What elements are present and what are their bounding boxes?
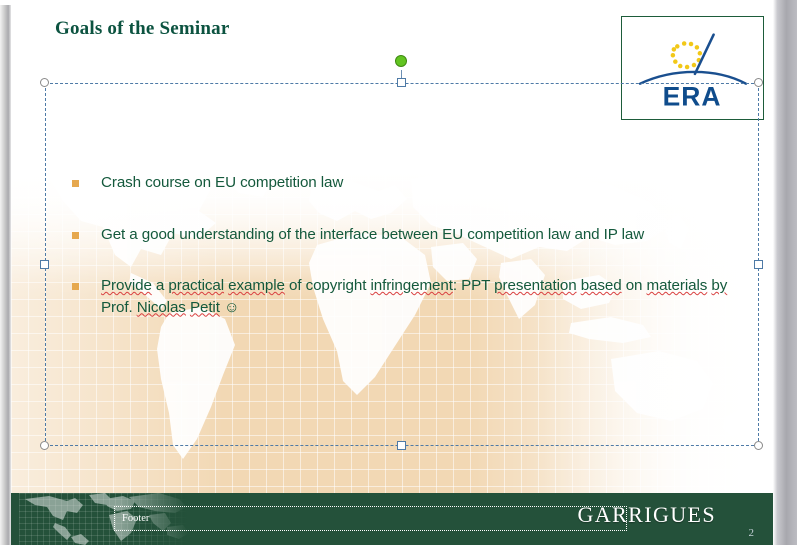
square-bullet-icon [72, 283, 79, 290]
square-bullet-icon [72, 232, 79, 239]
handle-bottom-right[interactable] [754, 441, 763, 450]
page-number: 2 [749, 527, 755, 539]
handle-bottom-center[interactable] [397, 441, 406, 450]
handle-top-center[interactable] [397, 78, 406, 87]
bullet-text-1: Crash course on EU competition law [101, 172, 343, 194]
square-bullet-icon [72, 180, 79, 187]
slide-footer-bar: Footer GARRIGUES 2 [11, 493, 774, 545]
slide-canvas[interactable]: Goals of the Seminar [11, 4, 774, 545]
brand-wordmark: GARRIGUES [578, 502, 717, 528]
bullet-list: Crash course on EU competition law Get a… [46, 84, 758, 348]
bullet-text-3: Provide a practical example of copyright… [101, 275, 750, 318]
list-item[interactable]: Crash course on EU competition law [46, 172, 758, 194]
list-item[interactable]: Get a good understanding of the interfac… [46, 224, 758, 246]
rotate-handle[interactable] [395, 55, 407, 67]
bullet-text-2: Get a good understanding of the interfac… [101, 224, 644, 246]
footer-placeholder[interactable]: Footer [114, 506, 627, 531]
handle-bottom-left[interactable] [40, 441, 49, 450]
handle-middle-right[interactable] [754, 260, 763, 269]
slide-editor: Goals of the Seminar [0, 0, 797, 545]
handle-top-right[interactable] [754, 78, 763, 87]
page-title[interactable]: Goals of the Seminar [55, 18, 229, 40]
list-item[interactable]: Provide a practical example of copyright… [46, 275, 758, 318]
handle-middle-left[interactable] [40, 260, 49, 269]
footer-placeholder-label: Footer [115, 513, 149, 524]
handle-top-left[interactable] [40, 78, 49, 87]
canvas-gutter-right [773, 0, 797, 545]
content-placeholder[interactable]: Crash course on EU competition law Get a… [45, 83, 759, 446]
